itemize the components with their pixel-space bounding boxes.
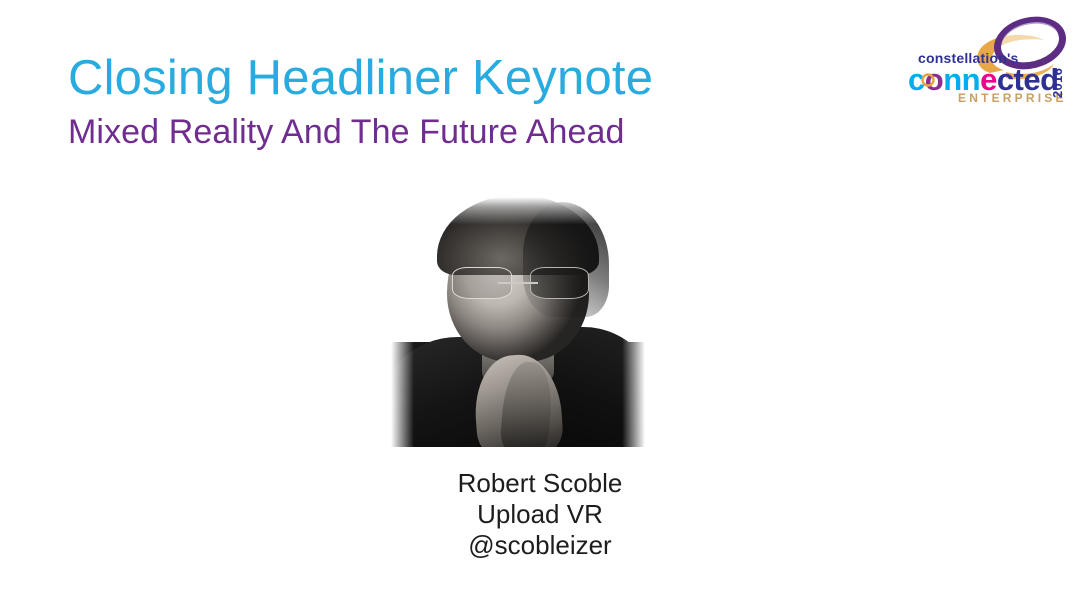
logo-year: 2016 xyxy=(1050,68,1065,98)
page-subtitle: Mixed Reality And The Future Ahead xyxy=(68,110,768,154)
speaker-company: Upload VR xyxy=(0,499,1080,530)
speaker-caption: Robert Scoble Upload VR @scobleizer xyxy=(0,468,1080,561)
event-logo: constellation's connected ENTERPRISE 201… xyxy=(902,10,1072,106)
page-title: Closing Headliner Keynote xyxy=(68,48,768,108)
connected-enterprise-logo-icon: constellation's connected ENTERPRISE 201… xyxy=(902,10,1072,106)
speaker-name: Robert Scoble xyxy=(0,468,1080,499)
speaker-photo xyxy=(391,197,645,447)
speaker-photo-image xyxy=(391,197,645,447)
speaker-handle: @scobleizer xyxy=(0,530,1080,561)
presentation-slide: Closing Headliner Keynote Mixed Reality … xyxy=(0,0,1080,608)
title-block: Closing Headliner Keynote Mixed Reality … xyxy=(68,48,768,154)
photo-vignette xyxy=(391,197,645,447)
